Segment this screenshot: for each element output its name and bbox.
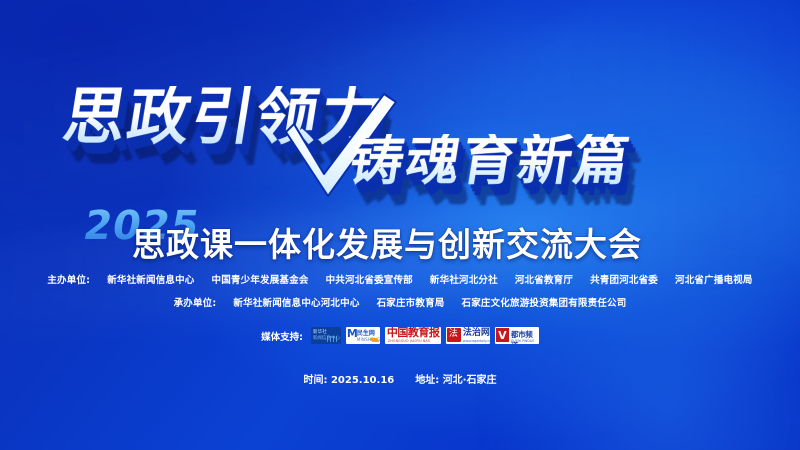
minnews-logo-swoosh-icon xyxy=(370,338,379,342)
poster-subtitle: 思政课一体化发展与创新交流大会 xyxy=(132,218,642,266)
place-label: 地址: xyxy=(415,375,439,386)
organizers-label: 主办单位: xyxy=(47,272,90,286)
china-education-daily-logo-en-text: ZHONGGUO JIAOYU BAO xyxy=(388,339,431,343)
hosts-line: 承办单位: 新华社新闻信息中心河北中心 石家庄市教育局 石家庄文化旅游投资集团有… xyxy=(0,295,800,309)
hosts-label: 承办单位: xyxy=(174,295,217,309)
legal-daily-logo-en-text: www.legaldaily.com.cn xyxy=(463,339,490,343)
media-support-row: 媒体支持: 新华社 新闻信息中心 M 民生网 MINSHENG.CN 中国教育报… xyxy=(0,327,800,344)
dushi-channel-logo-mark: V xyxy=(496,328,509,342)
event-footer: 时间: 2025.10.16 地址: 河北·石家庄 xyxy=(0,371,800,386)
host-item: 石家庄文化旅游投资集团有限责任公司 xyxy=(462,298,627,309)
china-education-daily-logo: 中国教育报 ZHONGGUO JIAOYU BAO xyxy=(385,327,441,344)
place-value: 河北·石家庄 xyxy=(443,375,497,386)
credits-block: 主办单位: 新华社新闻信息中心 中国青少年发展基金会 中共河北省委宣传部 新华社… xyxy=(0,272,800,319)
legal-daily-logo: 法 法治网 www.legaldaily.com.cn xyxy=(446,327,490,344)
legal-daily-logo-mark-box: 法 xyxy=(447,328,461,342)
china-education-daily-logo-cn-text: 中国教育报 xyxy=(387,327,440,339)
title-block: 思政引领力 铸魂育新篇 2025 思政课一体化发展与创新交流大会 xyxy=(0,0,800,215)
minnews-logo-cn-text: 民生网 xyxy=(357,328,375,337)
legal-daily-logo-mark: 法 xyxy=(449,330,458,339)
organizer-item: 河北省教育厅 xyxy=(515,275,573,286)
dushi-channel-logo-en-text: DUSHI PINDAO xyxy=(511,339,534,343)
conference-poster: 思政引领力 铸魂育新篇 2025 思政课一体化发展与创新交流大会 主办单位: 新… xyxy=(0,0,800,450)
title-line-2: 铸魂育新篇 xyxy=(346,134,635,188)
legal-daily-logo-cn-text: 法治网 xyxy=(463,328,490,338)
xinhua-logo-dots-decoration xyxy=(327,336,339,342)
time-label: 时间: xyxy=(303,375,327,386)
organizer-item: 河北省广播电视局 xyxy=(675,275,753,286)
time-value: 2025.10.16 xyxy=(331,375,394,386)
host-item: 石家庄市教育局 xyxy=(377,298,445,309)
organizer-item: 中国青少年发展基金会 xyxy=(212,275,309,286)
organizer-item: 新华社河北分社 xyxy=(430,275,498,286)
minnews-logo: M 民生网 MINSHENG.CN xyxy=(346,327,380,344)
organizer-item: 新华社新闻信息中心 xyxy=(107,275,194,286)
xinhua-logo: 新华社 新闻信息中心 xyxy=(311,327,341,344)
dushi-channel-logo: V 都市频道 DUSHI PINDAO xyxy=(495,327,539,344)
organizer-item: 中共河北省委宣传部 xyxy=(326,275,413,286)
host-item: 新华社新闻信息中心河北中心 xyxy=(233,298,359,309)
organizer-item: 共青团河北省委 xyxy=(590,275,658,286)
media-support-label: 媒体支持: xyxy=(261,329,303,343)
organizers-line: 主办单位: 新华社新闻信息中心 中国青少年发展基金会 中共河北省委宣传部 新华社… xyxy=(0,272,800,286)
